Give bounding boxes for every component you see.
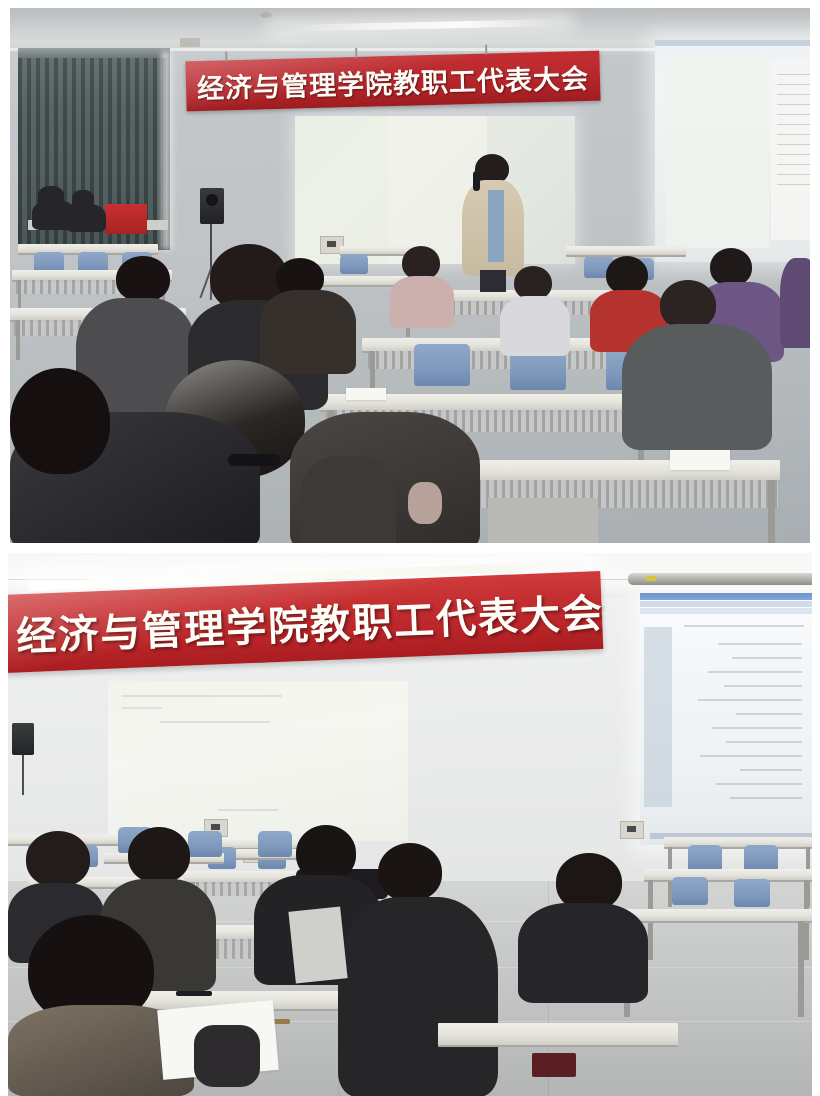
- chair: [672, 877, 708, 905]
- microphone-icon: [473, 171, 480, 191]
- chair: [734, 879, 770, 907]
- desk-shelf: [368, 351, 628, 369]
- audience-body: [518, 903, 648, 1003]
- roller-label: [646, 576, 656, 581]
- photo-collage-page: 经济与管理学院教职工代表大会: [0, 0, 820, 1096]
- ballot-paper: [288, 906, 347, 983]
- whiteboard: [108, 681, 408, 841]
- audience-head: [116, 256, 170, 302]
- desk: [664, 837, 812, 849]
- audience-head: [128, 827, 190, 883]
- eyeglasses-icon: [228, 454, 280, 466]
- foreground-head: [10, 368, 110, 474]
- paper-sheet: [346, 388, 386, 400]
- audience-head: [660, 280, 716, 330]
- foreground-hand: [194, 1025, 260, 1087]
- desk: [644, 869, 812, 882]
- audience-head: [26, 831, 90, 887]
- projection-screen: [640, 593, 812, 845]
- paper-sheet: [670, 448, 730, 470]
- chair: [688, 845, 722, 871]
- red-notebook: [532, 1053, 576, 1077]
- audience-body-gray: [622, 324, 772, 450]
- audience-head: [378, 843, 442, 901]
- projection-screen: [655, 40, 810, 262]
- audience-head: [606, 256, 648, 294]
- curtain-rail: [18, 48, 170, 58]
- desk: [438, 1023, 678, 1047]
- loudspeaker-icon: [200, 188, 224, 224]
- red-equipment-case: [105, 204, 147, 234]
- photo-separator: [0, 543, 820, 553]
- speaker-stand: [22, 755, 24, 795]
- staff-body-2: [66, 204, 106, 232]
- chair: [414, 344, 470, 386]
- loudspeaker-icon: [12, 723, 34, 755]
- chair: [258, 831, 292, 857]
- foreground-arm: [300, 456, 396, 543]
- projected-sidebar: [644, 627, 672, 807]
- audience-head: [296, 825, 356, 881]
- audience-body: [500, 296, 570, 356]
- desk-front-edge: [488, 498, 598, 543]
- audience-body-purple-2: [780, 258, 810, 348]
- chair: [340, 254, 368, 274]
- wall-outlet-icon: [620, 821, 644, 839]
- audience-body: [338, 897, 498, 1096]
- audience-head: [710, 248, 752, 286]
- projection-page-left: [665, 58, 769, 248]
- foreground-hand: [408, 482, 442, 524]
- projected-window-titlebar: [640, 593, 812, 600]
- chair: [188, 831, 222, 857]
- audience-head: [514, 266, 552, 300]
- audience-body: [260, 290, 356, 374]
- projection-page-right: [771, 60, 810, 240]
- audience-body: [390, 276, 454, 328]
- speaker-shirt: [488, 190, 504, 262]
- projected-toolbar: [640, 608, 812, 614]
- audience-head: [402, 246, 440, 280]
- pen: [176, 991, 212, 996]
- desk: [620, 909, 812, 923]
- projected-menu-bar: [640, 601, 812, 607]
- speaker-trousers: [480, 270, 506, 292]
- ceiling-vent-icon: [180, 38, 200, 47]
- photo-bottom: 经济与管理学院教职工代表大会 投票箱: [8, 553, 812, 1096]
- speaker-stand: [210, 224, 212, 270]
- smoke-detector-icon: [260, 12, 272, 18]
- photo-top: 经济与管理学院教职工代表大会: [10, 8, 810, 543]
- chair: [744, 845, 778, 871]
